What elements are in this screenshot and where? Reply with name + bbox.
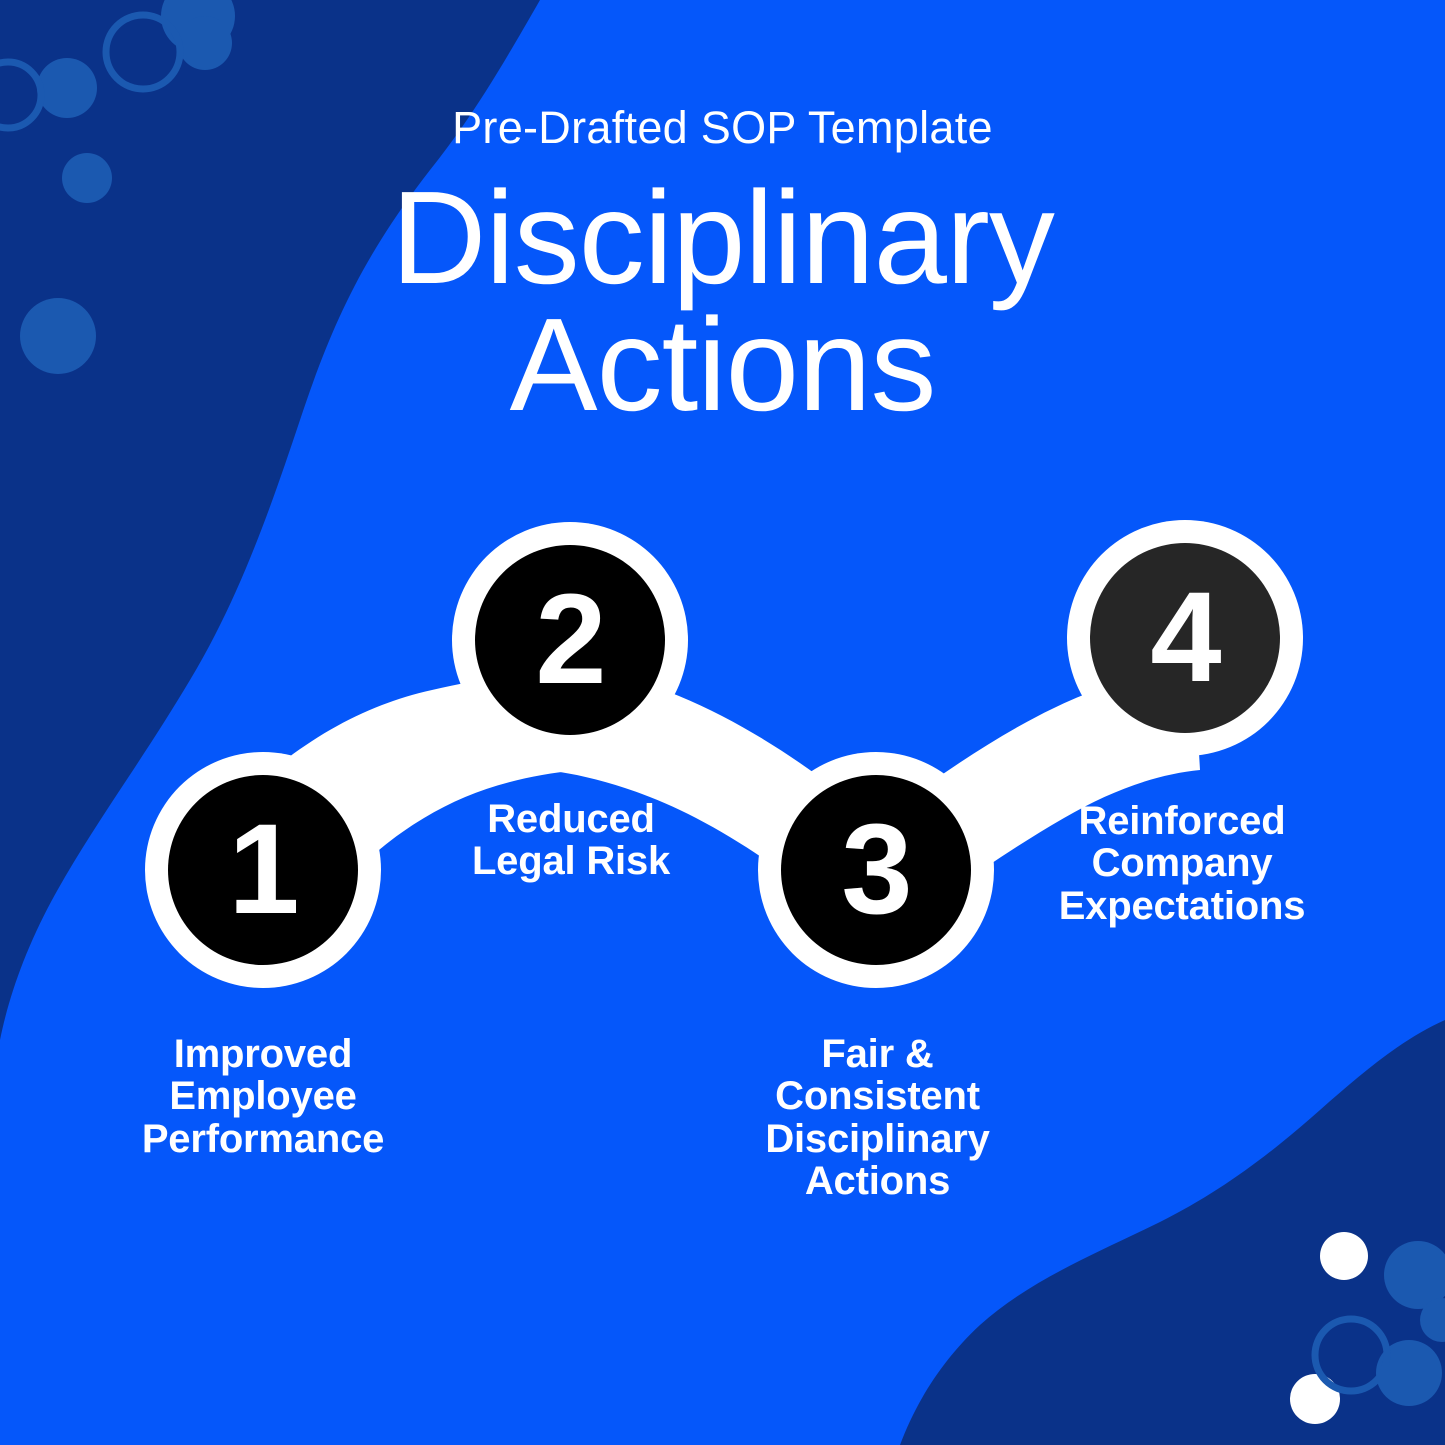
chain-caption-4-line-3: Expectations (1022, 885, 1342, 927)
chain-caption-2-line-1: Reduced (440, 798, 702, 840)
chain-node-2[interactable]: 2 (475, 545, 665, 735)
chain-caption-4-line-2: Company (1022, 842, 1342, 884)
chain-caption-4: Reinforced Company Expectations (1022, 800, 1342, 927)
chain-caption-2-line-2: Legal Risk (440, 840, 702, 882)
chain-node-4-number: 4 (1150, 574, 1219, 702)
chain-node-1[interactable]: 1 (168, 775, 358, 965)
chain-caption-3: Fair & Consistent Disciplinary Actions (755, 1033, 1000, 1203)
chain-caption-1-line-1: Improved (103, 1033, 423, 1075)
infographic-canvas: Pre-Drafted SOP Template Disciplinary Ac… (0, 0, 1445, 1445)
chain-caption-1: Improved Employee Performance (103, 1033, 423, 1160)
chain-caption-3-line-2: Consistent (755, 1075, 1000, 1117)
chain-node-3-number: 3 (841, 806, 910, 934)
chain-caption-3-line-1: Fair & (755, 1033, 1000, 1075)
chain-node-2-number: 2 (535, 576, 604, 704)
chain-caption-3-line-3: Disciplinary (755, 1118, 1000, 1160)
chain-caption-4-line-1: Reinforced (1022, 800, 1342, 842)
chain-node-3[interactable]: 3 (781, 775, 971, 965)
chain-caption-1-line-2: Employee (103, 1075, 423, 1117)
chain-node-1-number: 1 (228, 806, 297, 934)
chain-caption-1-line-3: Performance (103, 1118, 423, 1160)
chain-diagram: 1 2 3 4 Improved Employee Performance Re… (0, 0, 1445, 1445)
chain-node-4[interactable]: 4 (1090, 543, 1280, 733)
chain-caption-2: Reduced Legal Risk (440, 798, 702, 883)
chain-caption-3-line-4: Actions (755, 1160, 1000, 1202)
